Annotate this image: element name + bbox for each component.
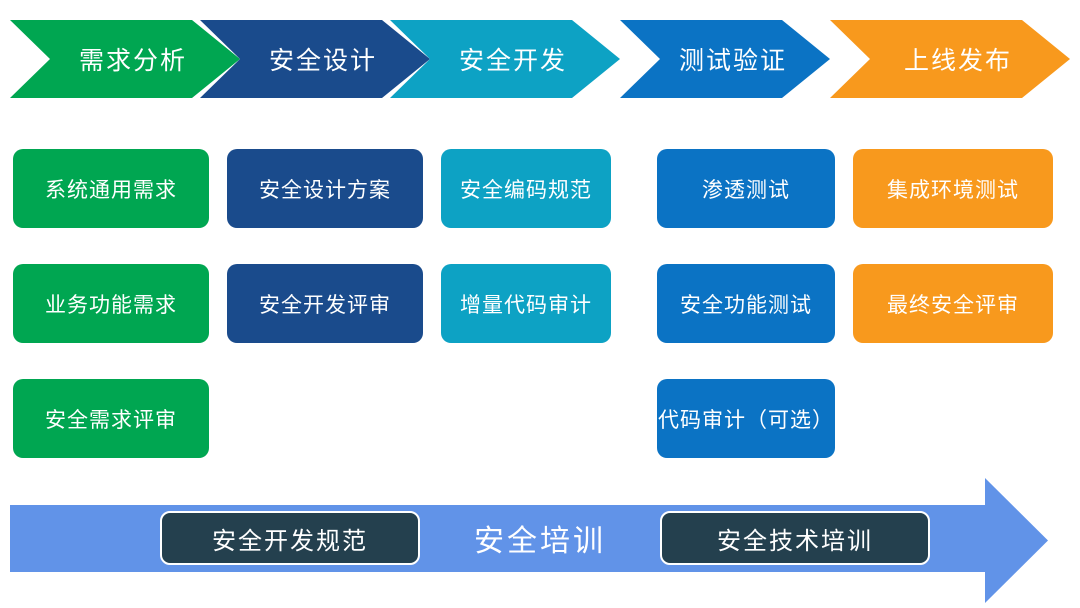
training-pill-label: 安全技术培训 bbox=[717, 521, 873, 556]
task-box[interactable]: 业务功能需求 bbox=[13, 264, 209, 343]
training-pill-tech-training[interactable]: 安全技术培训 bbox=[660, 511, 930, 565]
phase-chevron-requirements[interactable]: 需求分析 bbox=[10, 20, 240, 98]
training-pill-label: 安全开发规范 bbox=[212, 521, 368, 556]
training-arrow: 安全开发规范 安全培训 安全技术培训 bbox=[10, 478, 1048, 603]
phase-chevron-label: 上线发布 bbox=[904, 41, 1012, 77]
phase-chevron-band: 需求分析 安全设计 安全开发 测试验证 上线发布 bbox=[0, 20, 1080, 98]
task-box[interactable]: 系统通用需求 bbox=[13, 149, 209, 228]
phase-chevron-label: 安全开发 bbox=[459, 41, 567, 77]
task-box[interactable]: 增量代码审计 bbox=[441, 264, 611, 343]
task-box-label: 系统通用需求 bbox=[45, 174, 177, 204]
phase-chevron-label: 测试验证 bbox=[679, 41, 787, 77]
phase-chevron-label: 安全设计 bbox=[269, 41, 377, 77]
task-box-label: 增量代码审计 bbox=[460, 289, 592, 319]
task-box[interactable]: 代码审计（可选） bbox=[657, 379, 835, 458]
task-grid: 系统通用需求 业务功能需求 安全需求评审 安全设计方案 安全开发评审 安全编码规… bbox=[0, 149, 1080, 474]
phase-chevron-label: 需求分析 bbox=[79, 41, 187, 77]
task-box-label: 安全开发评审 bbox=[259, 289, 391, 319]
task-box-label: 渗透测试 bbox=[702, 174, 790, 204]
task-box[interactable]: 最终安全评审 bbox=[853, 264, 1053, 343]
training-bar-center-text: 安全培训 bbox=[474, 516, 606, 560]
phase-chevron-test-verification[interactable]: 测试验证 bbox=[620, 20, 830, 98]
task-box[interactable]: 安全功能测试 bbox=[657, 264, 835, 343]
training-arrow-head-icon bbox=[985, 478, 1048, 603]
training-bar-center-label: 安全培训 bbox=[440, 511, 640, 565]
task-box[interactable]: 渗透测试 bbox=[657, 149, 835, 228]
diagram-canvas: 需求分析 安全设计 安全开发 测试验证 上线发布 系统通用需求 业务功能需求 安… bbox=[0, 0, 1080, 608]
task-box[interactable]: 安全编码规范 bbox=[441, 149, 611, 228]
task-box-label: 最终安全评审 bbox=[887, 289, 1019, 319]
task-box[interactable]: 集成环境测试 bbox=[853, 149, 1053, 228]
training-pill-dev-standard[interactable]: 安全开发规范 bbox=[160, 511, 420, 565]
task-box[interactable]: 安全需求评审 bbox=[13, 379, 209, 458]
task-box-label: 集成环境测试 bbox=[887, 174, 1019, 204]
task-box-label: 安全编码规范 bbox=[460, 174, 592, 204]
task-box-label: 安全设计方案 bbox=[259, 174, 391, 204]
task-box-label: 业务功能需求 bbox=[45, 289, 177, 319]
task-box[interactable]: 安全设计方案 bbox=[227, 149, 423, 228]
task-box-label: 安全需求评审 bbox=[45, 404, 177, 434]
task-box[interactable]: 安全开发评审 bbox=[227, 264, 423, 343]
task-box-label: 安全功能测试 bbox=[680, 289, 812, 319]
phase-chevron-release[interactable]: 上线发布 bbox=[830, 20, 1070, 98]
task-box-label: 代码审计（可选） bbox=[658, 404, 834, 434]
